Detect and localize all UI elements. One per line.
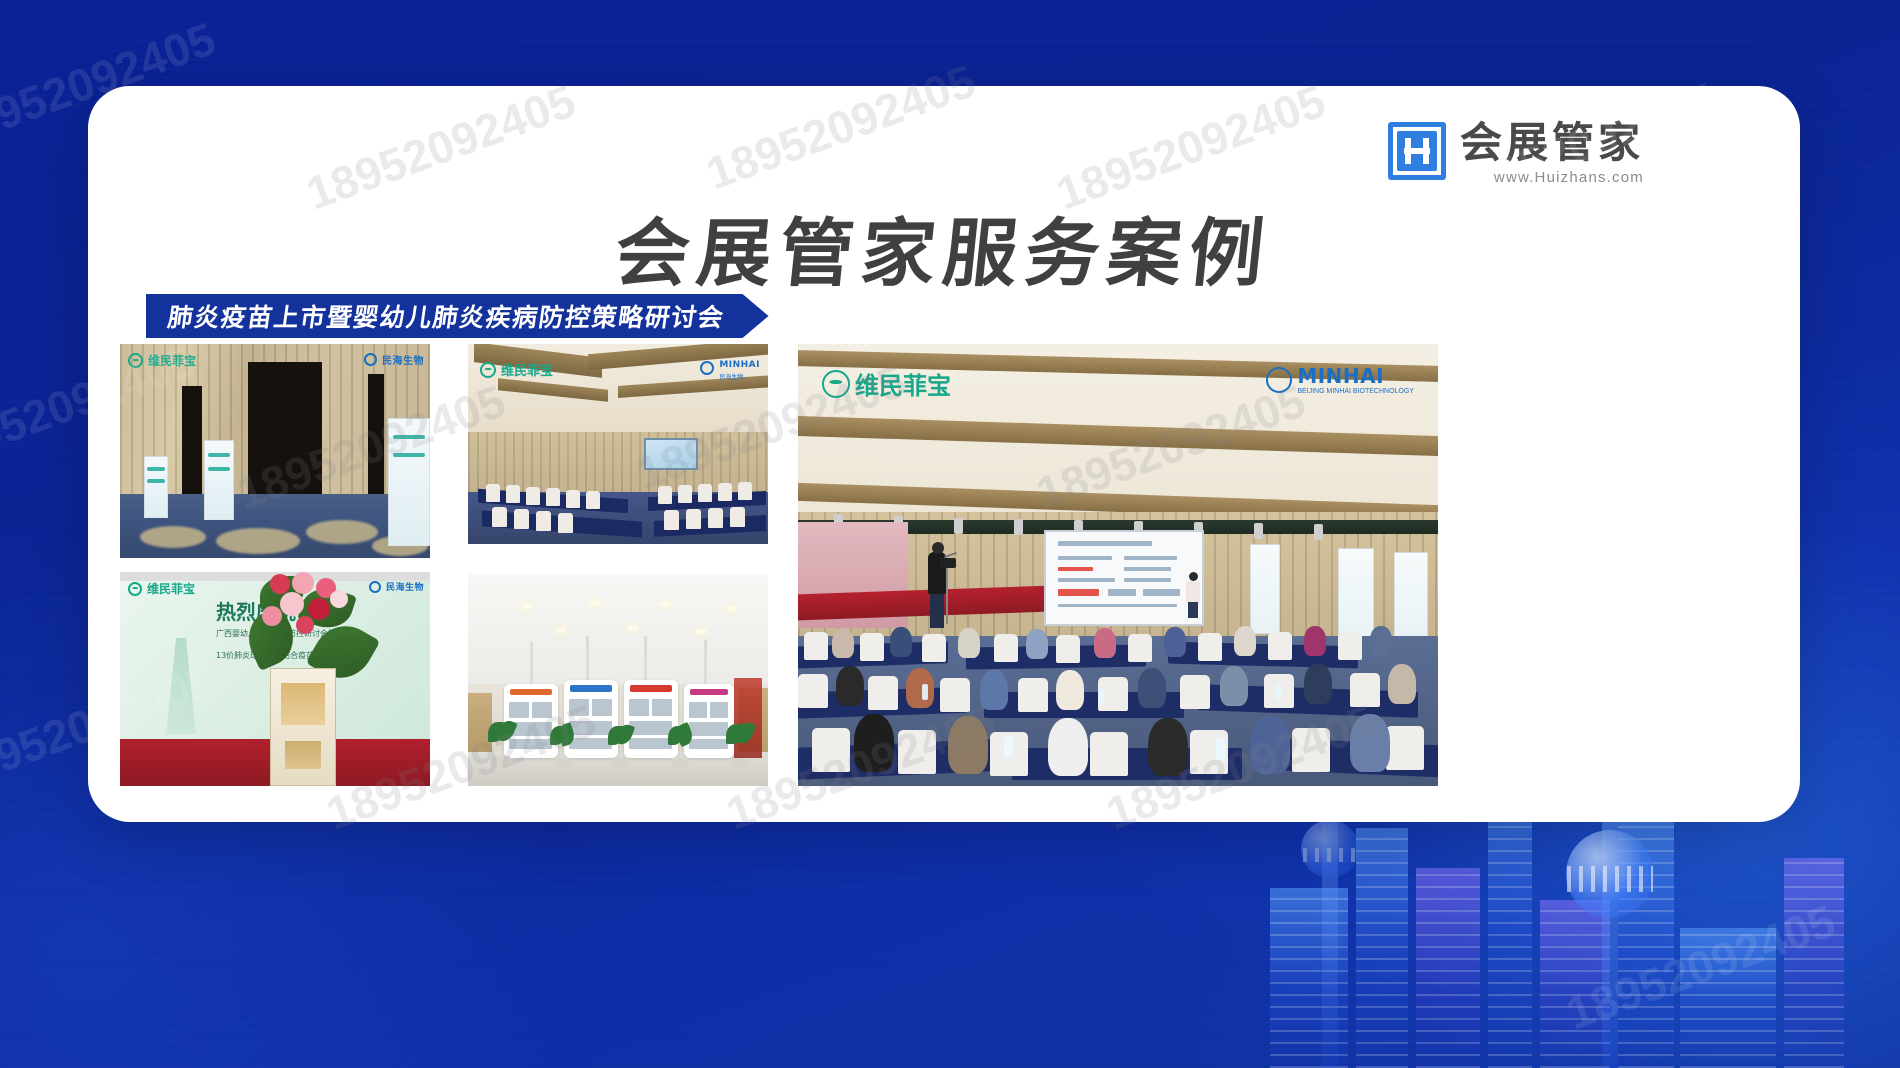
photo-audience-session[interactable]: 维民菲宝 MINHAI BEIJING MINHAI BIOTECHNOLOGY… bbox=[798, 344, 1438, 786]
photo-gallery: 维民菲宝 民海生物 bbox=[120, 344, 1768, 792]
presenter bbox=[1186, 572, 1200, 618]
photo-stage-backdrop-flowers[interactable]: 热烈庆祝 广西婴幼儿肺炎疾病防控研讨会暨 13价肺炎球菌多糖结合疫苗上市发布会 bbox=[120, 572, 430, 786]
photo-conference-hall-empty[interactable]: 维民菲宝 MINHAI 民海生物 bbox=[468, 344, 768, 544]
photo-venue-entrance[interactable]: 维民菲宝 民海生物 bbox=[120, 344, 430, 558]
photo-exhibition-boards[interactable] bbox=[468, 574, 768, 786]
event-ribbon-label: 肺炎疫苗上市暨婴幼儿肺炎疾病防控策略研讨会 bbox=[165, 298, 727, 334]
huizhans-logo-icon bbox=[1388, 122, 1446, 180]
brand-name: 会展管家 bbox=[1460, 122, 1644, 165]
brand-logo[interactable]: 会展管家 www.Huizhans.com bbox=[1388, 122, 1644, 186]
brand-url: www.Huizhans.com bbox=[1460, 169, 1644, 186]
camera-operator bbox=[924, 540, 958, 628]
page-title: 会展管家服务案例 bbox=[88, 194, 1800, 301]
event-ribbon: 肺炎疫苗上市暨婴幼儿肺炎疾病防控策略研讨会 bbox=[146, 294, 769, 338]
content-card: 会展管家 www.Huizhans.com 会展管家服务案例 肺炎疫苗上市暨婴幼… bbox=[88, 86, 1800, 822]
